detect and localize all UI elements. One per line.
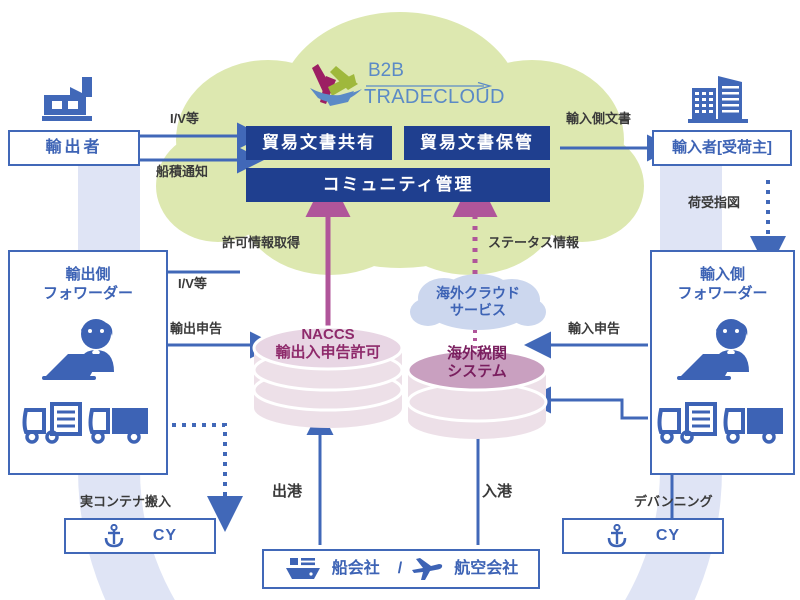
cloud-box-doc-storage[interactable]: 貿易文書保管 (404, 126, 550, 160)
overseas-cloud-line1: 海外クラウド (408, 285, 548, 302)
carrier-air-label: 航空会社 (454, 559, 518, 579)
flow-label-cargo-receipt: 荷受指図 (688, 196, 740, 210)
overseas-cloud-label: 海外クラウド サービス (408, 285, 548, 318)
cy-right-label: CY (656, 526, 680, 546)
trucks-icon (22, 394, 154, 446)
flow-label-departure: 出港 (272, 484, 302, 501)
node-carrier[interactable]: 船会社 / 航空会社 (262, 549, 540, 589)
cy-left-label: CY (153, 526, 177, 546)
flow-label-container-in: 実コンテナ搬入 (80, 495, 171, 509)
anchor-icon (103, 524, 125, 548)
logo-line1: B2B (368, 60, 404, 82)
flow-label-arrival: 入港 (482, 484, 512, 501)
flow-label-iv-to-cloud: I/V等 (170, 112, 199, 126)
cloud-box-doc-share[interactable]: 貿易文書共有 (246, 126, 392, 160)
flow-label-iv-to-forwarder: I/V等 (178, 277, 207, 291)
node-cy-right[interactable]: CY (562, 518, 724, 554)
forwarder-person-icon (24, 316, 152, 388)
carrier-ship-label: 船会社 (332, 559, 380, 579)
naccs-line1: NACCS (252, 326, 404, 344)
node-export-forwarder[interactable]: 輸出側 フォワーダー (8, 250, 168, 475)
forwarder-person-icon (659, 316, 787, 388)
office-building-icon (686, 74, 750, 124)
node-import-forwarder[interactable]: 輸入側 フォワーダー (650, 250, 795, 475)
naccs-line2: 輸出入申告許可 (252, 344, 404, 362)
flow-label-devanning: デバンニング (634, 495, 713, 509)
import-forwarder-line2: フォワーダー (677, 285, 767, 304)
node-importer[interactable]: 輸入者[受荷主] (652, 130, 792, 166)
flow-label-import-side-docs: 輸入側文書 (566, 112, 631, 126)
node-cy-left[interactable]: CY (64, 518, 216, 554)
flow-label-import-declaration: 輸入申告 (568, 322, 620, 336)
import-forwarder-line1: 輸入側 (700, 266, 745, 285)
export-forwarder-line2: フォワーダー (43, 285, 133, 304)
overseas-customs-label: 海外税関 システム (406, 345, 548, 380)
overseas-cloud-line2: サービス (408, 302, 548, 319)
node-exporter[interactable]: 輸出者 (8, 130, 140, 166)
diagram-canvas: B2B TRADECLOUD 貿易文書共有 貿易文書保管 コミュニティ管理 輸出… (0, 0, 800, 600)
flow-label-status-info: ステータス情報 (488, 236, 579, 250)
flow-label-permit-info: 許可情報取得 (222, 236, 300, 250)
export-forwarder-line1: 輸出側 (65, 266, 110, 285)
cloud-box-community[interactable]: コミュニティ管理 (246, 168, 550, 202)
trucks-icon (657, 394, 789, 446)
ship-icon (284, 556, 322, 582)
airplane-icon (410, 556, 444, 582)
flow-label-shipping-notice: 船積通知 (156, 165, 208, 179)
flow-label-export-declaration: 輸出申告 (170, 322, 222, 336)
logo-line2: TRADECLOUD (364, 86, 505, 109)
carrier-separator: / (398, 559, 402, 579)
naccs-label: NACCS 輸出入申告許可 (252, 326, 404, 361)
overseas-customs-line1: 海外税関 (406, 345, 548, 363)
overseas-customs-line2: システム (406, 363, 548, 381)
anchor-icon (606, 524, 628, 548)
factory-icon (40, 75, 104, 123)
